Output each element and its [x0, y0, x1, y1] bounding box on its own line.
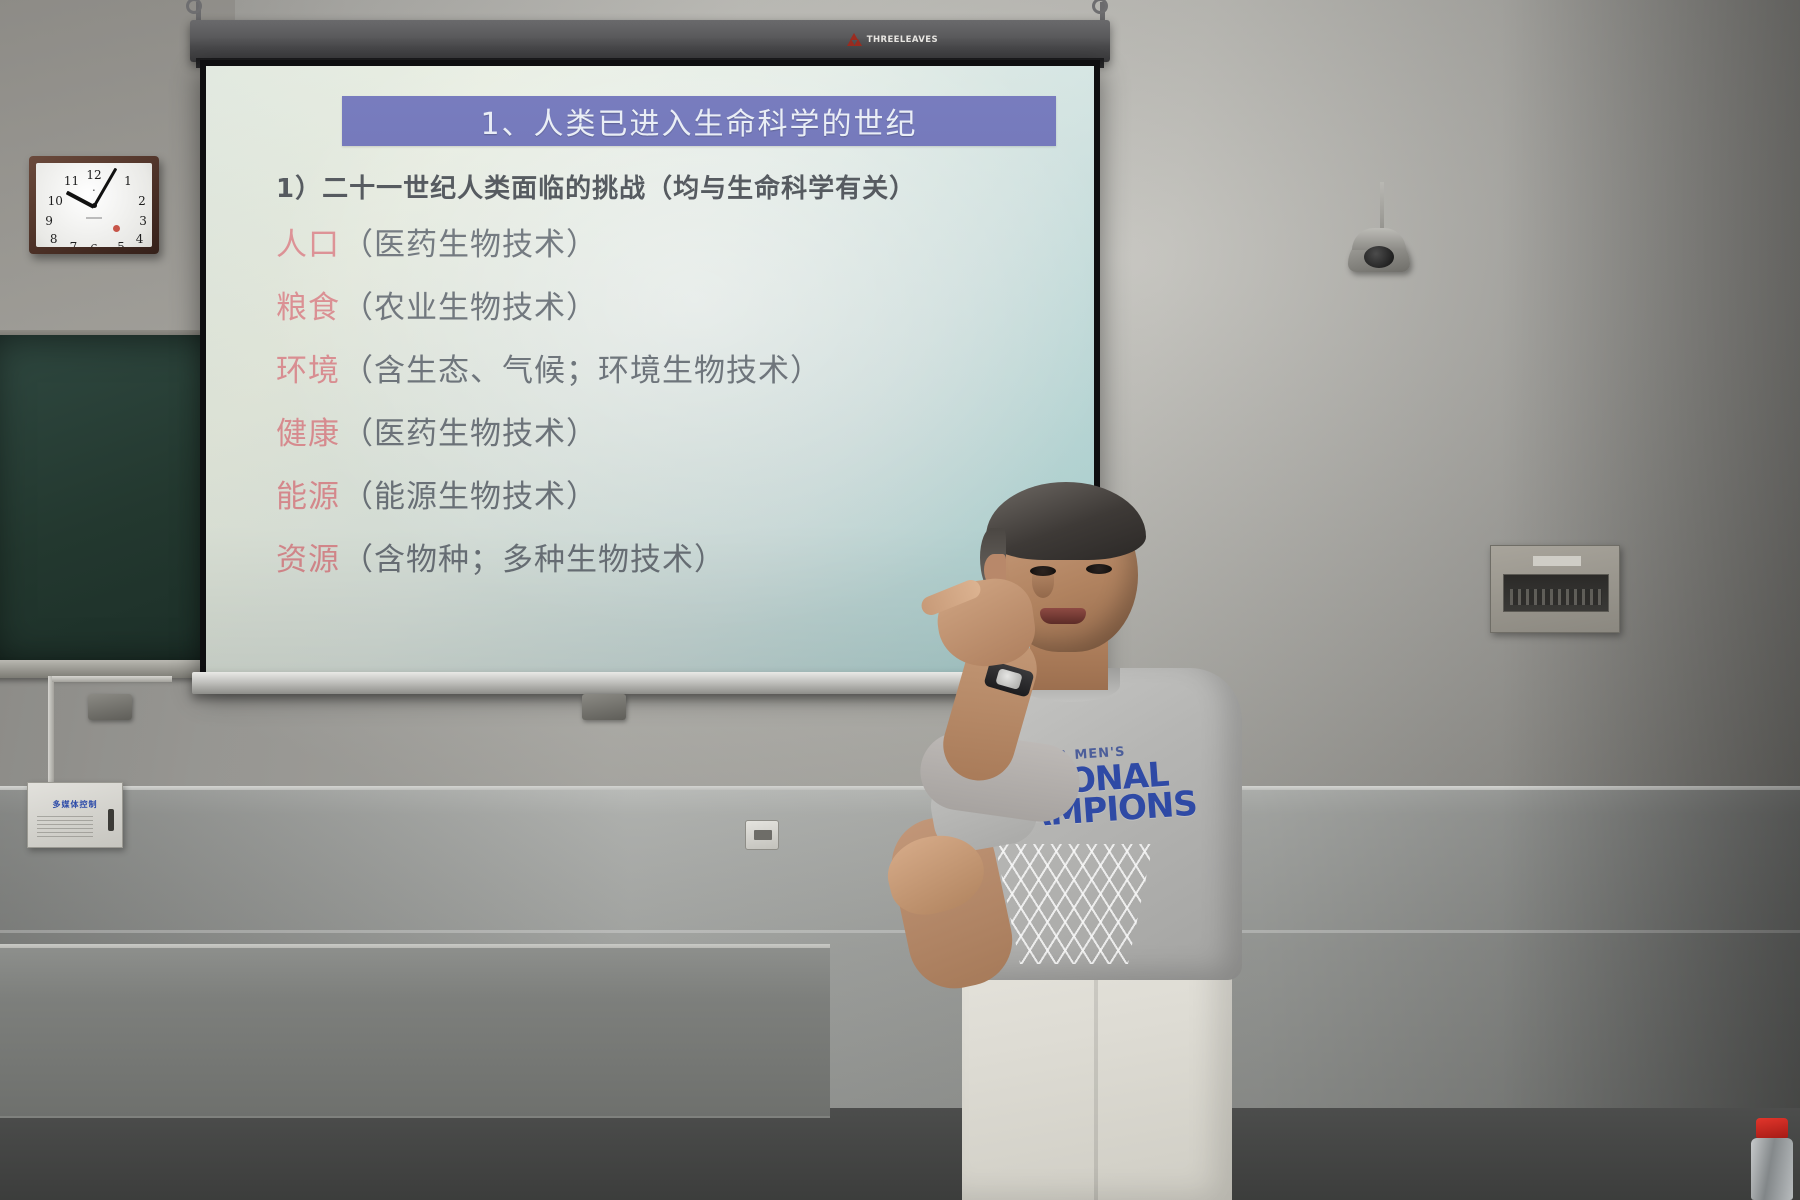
nose: [1032, 566, 1054, 598]
outlet-socket: [754, 830, 772, 840]
clock-numeral: 5: [117, 241, 125, 247]
screen-bracket-left: [88, 694, 132, 720]
classroom-scene: 12 1 2 3 4 5 6 7 8 9 10 11 • THREELEAVES: [0, 0, 1800, 1200]
wall-clock: 12 1 2 3 4 5 6 7 8 9 10 11 •: [29, 156, 159, 254]
blackboard: [0, 335, 230, 665]
desk: [0, 948, 830, 1118]
projector-screen-casing[interactable]: THREELEAVES: [190, 20, 1110, 62]
slide-bullet: 健康 （医药生物技术）: [276, 408, 1068, 453]
bullet-text: （能源生物技术）: [342, 471, 598, 516]
camera-lens: [1364, 246, 1394, 268]
projector-brand-label: THREELEAVES: [867, 35, 938, 45]
clock-numeral: 9: [45, 215, 53, 227]
screen-bracket-right: [582, 694, 626, 720]
bullet-keyword: 粮食: [276, 282, 340, 327]
panel-label-strip: [1533, 556, 1581, 566]
bullet-keyword: 环境: [276, 345, 340, 390]
slide-bullet: 粮食 （农业生物技术）: [276, 282, 1068, 327]
clock-numeral: 2: [138, 195, 146, 207]
clock-numeral: 6: [90, 243, 98, 247]
mouth: [1040, 608, 1086, 624]
bullet-keyword: 健康: [276, 408, 340, 453]
clock-brand-mark: •: [92, 188, 95, 194]
clock-numeral: 10: [48, 195, 63, 207]
bullet-keyword: 能源: [276, 471, 340, 516]
placard-text-lines: [37, 816, 93, 840]
clock-numeral: 3: [139, 215, 147, 227]
bottle-body: [1751, 1138, 1793, 1200]
control-placard[interactable]: 多媒体控制: [27, 782, 123, 848]
bullet-text: （含生态、气候；环境生物技术）: [342, 345, 822, 390]
clock-hour-hand: [66, 191, 95, 209]
eye-right: [1086, 564, 1112, 574]
lecturer: Levi's NCAA MEN'S NATIONAL CHAMPIONS: [880, 480, 1360, 1200]
bottle-cap: [1756, 1118, 1788, 1138]
wall-conduit-vertical: [48, 676, 54, 786]
slide-bullet: 人口 （医药生物技术）: [276, 219, 1068, 264]
slide-title: 1、人类已进入生命科学的世纪: [480, 99, 917, 143]
clock-numeral: 12: [86, 169, 101, 181]
clock-datewindow: [86, 217, 102, 219]
bullet-text: （含物种；多种生物技术）: [342, 534, 726, 579]
clock-numeral: 4: [136, 233, 144, 245]
clock-numeral: 11: [64, 175, 79, 187]
wall-conduit-horizontal: [52, 676, 172, 682]
projector-brand: THREELEAVES: [847, 33, 938, 46]
bullet-keyword: 人口: [276, 219, 340, 264]
clock-face: 12 1 2 3 4 5 6 7 8 9 10 11 •: [36, 163, 152, 247]
water-bottle[interactable]: [1748, 1118, 1796, 1200]
slide-subtitle: 1）二十一世纪人类面临的挑战（均与生命科学有关）: [276, 168, 1068, 205]
bullet-text: （医药生物技术）: [342, 219, 598, 264]
wall-equipment-panel[interactable]: [1490, 545, 1620, 633]
clock-center-pin: [92, 203, 97, 208]
slide-title-band: 1、人类已进入生命科学的世纪: [342, 96, 1056, 146]
slide-bullet: 环境 （含生态、气候；环境生物技术）: [276, 345, 1068, 390]
bullet-keyword: 资源: [276, 534, 340, 579]
clock-numeral: 7: [70, 241, 78, 247]
bullet-text: （农业生物技术）: [342, 282, 598, 327]
hair: [986, 482, 1146, 560]
security-camera-icon: [1348, 228, 1410, 272]
placard-slot: [108, 809, 114, 831]
panel-vent: [1503, 574, 1609, 612]
clock-numeral: 1: [124, 175, 132, 187]
panel-vent-teeth: [1510, 589, 1602, 605]
three-diamond-logo-icon: [847, 33, 862, 46]
clock-accent-dot: [113, 225, 120, 232]
power-outlet-icon[interactable]: [745, 820, 779, 850]
clock-numeral: 8: [50, 233, 58, 245]
bullet-text: （医药生物技术）: [342, 408, 598, 453]
